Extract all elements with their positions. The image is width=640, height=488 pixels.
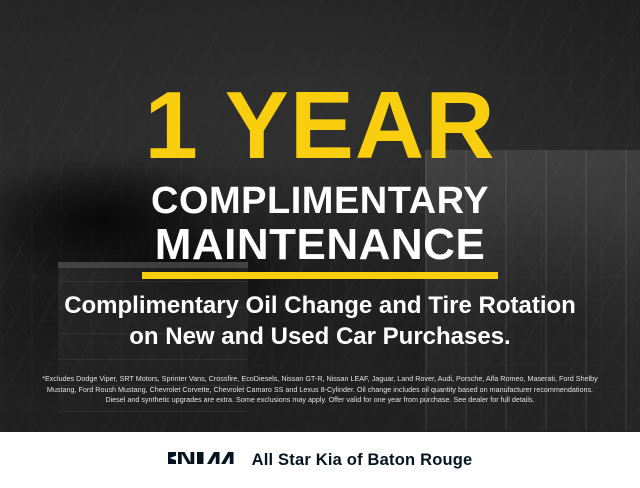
yellow-divider (142, 272, 498, 279)
dealer-footer: All Star Kia of Baton Rouge (0, 432, 640, 488)
headline: 1 YEAR (0, 78, 640, 174)
subheadline-line-2: MAINTENANCE (0, 222, 640, 268)
kia-logo-icon (168, 447, 234, 474)
banner-content: 1 YEAR COMPLIMENTARY MAINTENANCE Complim… (0, 0, 640, 432)
promotional-banner: 1 YEAR COMPLIMENTARY MAINTENANCE Complim… (0, 0, 640, 488)
offer-description-line-2: on New and Used Car Purchases. (0, 321, 640, 352)
offer-description-line-1: Complimentary Oil Change and Tire Rotati… (0, 290, 640, 321)
disclaimer-text: *Excludes Dodge Viper, SRT Motors, Sprin… (14, 374, 626, 406)
subheadline-line-1: COMPLIMENTARY (0, 181, 640, 221)
disclaimer-line-2: Mustang, Ford Roush Mustang, Chevrolet C… (14, 385, 626, 396)
dealer-name: All Star Kia of Baton Rouge (252, 451, 473, 470)
disclaimer-line-3: Diesel and synthetic upgrades are extra.… (14, 395, 626, 406)
disclaimer-line-1: *Excludes Dodge Viper, SRT Motors, Sprin… (14, 374, 626, 385)
offer-description: Complimentary Oil Change and Tire Rotati… (0, 290, 640, 352)
